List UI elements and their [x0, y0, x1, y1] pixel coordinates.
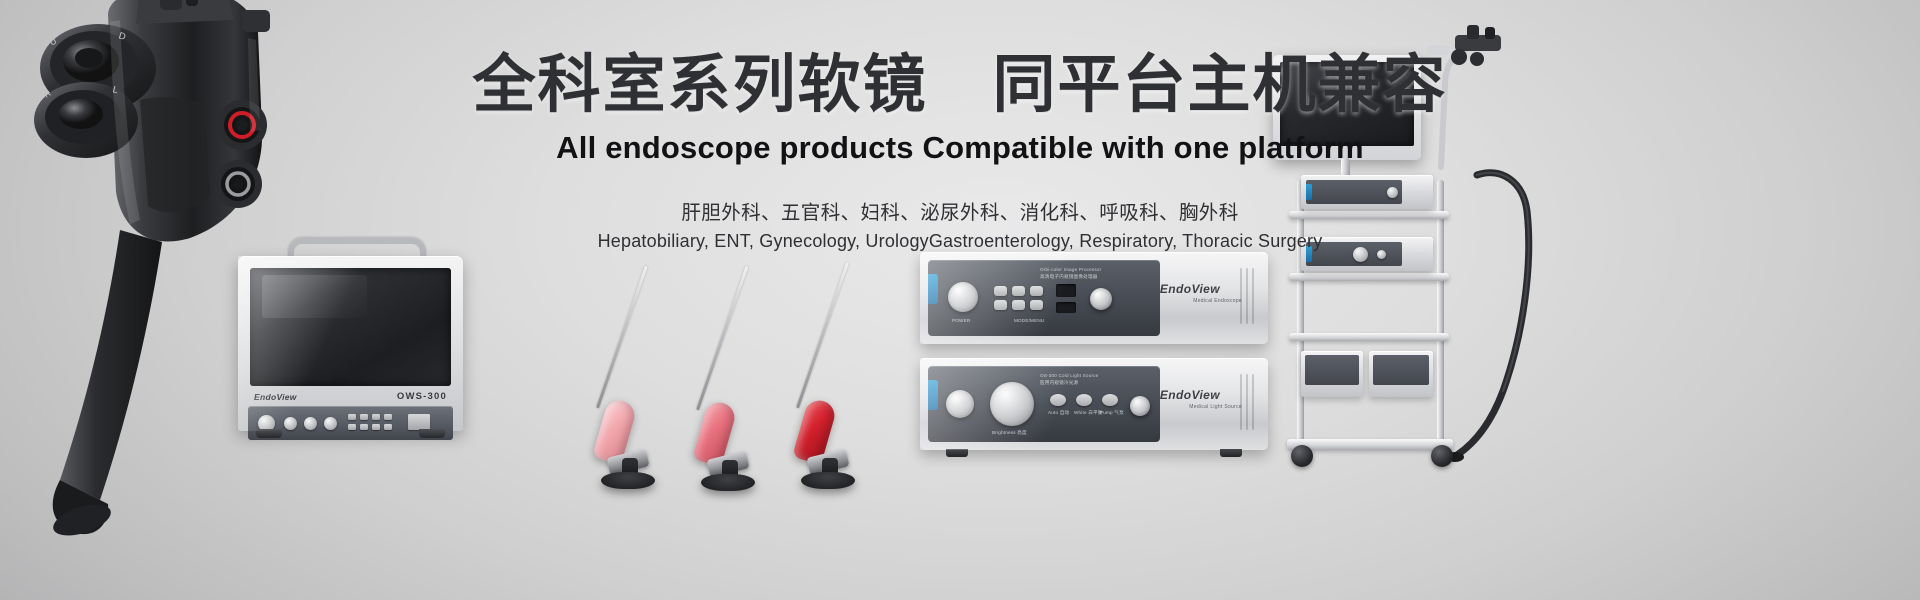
- light-source-blue-accent-tab: [928, 380, 938, 410]
- console-foot-left: [256, 429, 282, 438]
- light-source-vent-1: [1252, 374, 1254, 430]
- light-source-button-white[interactable]: [1076, 394, 1092, 406]
- cart-device-3-panel: [1305, 355, 1359, 385]
- console-keypad-key-8[interactable]: [384, 424, 392, 430]
- light-source-brightness-dial[interactable]: [990, 382, 1034, 426]
- processor-button-6[interactable]: [1030, 300, 1043, 310]
- light-source-label-auto: Auto 自动: [1048, 410, 1069, 416]
- banner-text-block: 全科室系列软镜 同平台主机兼容 All endoscope products C…: [0, 50, 1920, 252]
- light-source-vent-2: [1246, 374, 1248, 430]
- console-function-knob-2[interactable]: [304, 417, 317, 430]
- console-enter-key[interactable]: [408, 414, 430, 430]
- processor-panel-title-cn: 高清电子内窥镜图像处理器: [1040, 274, 1098, 280]
- processor-power-knob[interactable]: [948, 282, 978, 312]
- headline-part-2: 同平台主机兼容: [993, 50, 1448, 120]
- flexible-scope-group: [500, 250, 900, 500]
- endoview-processor-stack: Orbi-color Image Processor 高清电子内窥镜图像处理器 …: [920, 252, 1280, 462]
- console-keypad-key-2[interactable]: [360, 414, 368, 420]
- light-source-sub-label: Medical Light Source: [1189, 404, 1242, 410]
- page-title: 全科室系列软镜 同平台主机兼容: [0, 50, 1920, 121]
- light-source-panel-title-cn: 医用内窥镜冷光源: [1040, 380, 1078, 386]
- processor-front-panel: Orbi-color Image Processor 高清电子内窥镜图像处理器 …: [928, 260, 1160, 336]
- processor-video-port[interactable]: [1056, 284, 1076, 297]
- processor-button-5[interactable]: [1012, 300, 1025, 310]
- processor-button-3[interactable]: [1030, 286, 1043, 296]
- light-source-unit: OS-300 Cold Light Source 医用内窥镜冷光源 Auto 自…: [920, 358, 1268, 450]
- processor-sub-label: Medical Endoscope: [1193, 298, 1242, 304]
- departments-chinese: 肝胆外科、五官科、妇科、泌尿外科、消化科、呼吸科、胸外科: [0, 196, 1920, 225]
- processor-usb-port[interactable]: [1056, 302, 1076, 313]
- flexible-scope-red: [700, 250, 830, 490]
- processor-button-1[interactable]: [994, 286, 1007, 296]
- scope-insertion-shaft: [796, 262, 849, 409]
- light-source-panel-title: OS-300 Cold Light Source: [1040, 373, 1098, 378]
- light-source-foot-left: [946, 449, 968, 457]
- console-keypad-key-5[interactable]: [348, 424, 356, 430]
- light-source-label-pump: Pump 气泵: [1100, 410, 1124, 416]
- console-keypad-key-1[interactable]: [348, 414, 356, 420]
- processor-control-label-2: MODE/MENU: [1014, 318, 1044, 323]
- light-source-vent-3: [1240, 374, 1242, 430]
- processor-control-label-1: POWER: [952, 318, 970, 323]
- cart-caster-left: [1291, 445, 1313, 467]
- console-foot-right: [419, 429, 445, 438]
- console-body: EndoView OWS-300: [238, 256, 463, 431]
- console-keypad-key-7[interactable]: [372, 424, 380, 430]
- departments-english: Hepatobiliary, ENT, Gynecology, UrologyG…: [0, 231, 1920, 252]
- processor-brand-label: EndoView: [1160, 282, 1220, 296]
- processor-button-2[interactable]: [1012, 286, 1025, 296]
- image-processor-unit: Orbi-color Image Processor 高清电子内窥镜图像处理器 …: [920, 252, 1268, 344]
- headline-part-1: 全科室系列软镜: [472, 50, 927, 120]
- console-keypad-key-6[interactable]: [360, 424, 368, 430]
- light-source-brand-label: EndoView: [1160, 388, 1220, 402]
- scope-display-base: [801, 472, 855, 489]
- console-keypad-key-3[interactable]: [372, 414, 380, 420]
- processor-vent-1: [1252, 268, 1254, 324]
- light-source-foot-right: [1220, 449, 1242, 457]
- light-source-dial-label: Brightness 亮度: [992, 430, 1027, 436]
- processor-vent-2: [1246, 268, 1248, 324]
- console-function-knob-1[interactable]: [284, 417, 297, 430]
- processor-blue-accent-tab: [928, 274, 938, 304]
- light-source-front-panel: OS-300 Cold Light Source 医用内窥镜冷光源 Auto 自…: [928, 366, 1160, 442]
- light-source-button-pump[interactable]: [1102, 394, 1118, 406]
- processor-button-4[interactable]: [994, 300, 1007, 310]
- monitor-console-ows300: EndoView OWS-300: [238, 238, 503, 468]
- light-source-power-knob[interactable]: [946, 390, 974, 418]
- processor-panel-title: Orbi-color Image Processor: [1040, 267, 1101, 272]
- processor-scope-socket[interactable]: [1090, 288, 1112, 310]
- page-subtitle: All endoscope products Compatible with o…: [0, 130, 1920, 166]
- processor-vent-3: [1240, 268, 1242, 324]
- console-brand-label: EndoView: [254, 392, 297, 402]
- light-source-button-auto[interactable]: [1050, 394, 1066, 406]
- light-source-output-socket[interactable]: [1130, 396, 1150, 416]
- console-model-label: OWS-300: [397, 391, 447, 402]
- console-keypad-key-4[interactable]: [384, 414, 392, 420]
- console-function-knob-3[interactable]: [324, 417, 337, 430]
- light-source-label-white: White 白平衡: [1074, 410, 1103, 416]
- console-display-screen: [250, 268, 451, 386]
- cart-caster-right: [1431, 445, 1453, 467]
- cart-device-camera-unit: [1301, 351, 1363, 397]
